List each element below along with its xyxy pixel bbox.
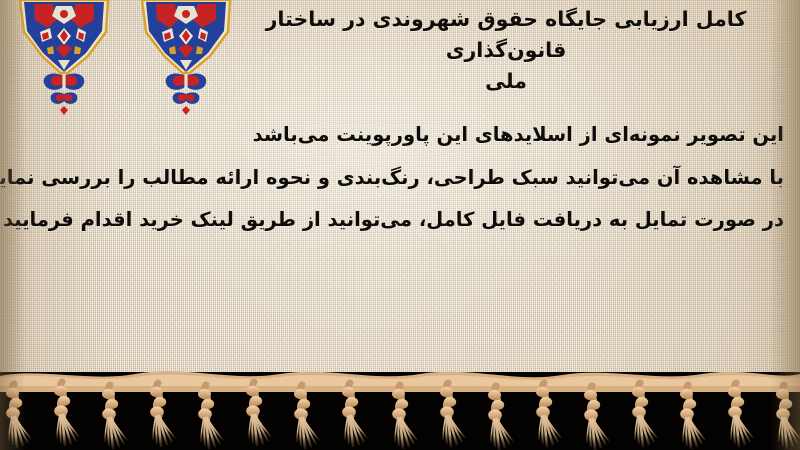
- slide-body: این تصویر نمونه‌ای از اسلایدهای این پاور…: [14, 114, 784, 242]
- persian-medallion-pendants-svg: [0, 0, 250, 115]
- slide-title: کامل ارزیابی جایگاه حقوق شهروندی در ساخت…: [226, 4, 786, 97]
- slide-canvas: کامل ارزیابی جایگاه حقوق شهروندی در ساخت…: [0, 0, 800, 450]
- persian-medallion-pendant-right: [142, 0, 230, 76]
- body-line-3: در صورت تمایل به دریافت فایل کامل، می‌تو…: [14, 199, 784, 242]
- ornament-group: [0, 0, 250, 115]
- fringe-svg: [0, 362, 800, 450]
- slide-title-line-2: ملی: [226, 66, 786, 97]
- body-line-1: این تصویر نمونه‌ای از اسلایدهای این پاور…: [14, 114, 784, 157]
- slide-title-line-1: کامل ارزیابی جایگاه حقوق شهروندی در ساخت…: [226, 4, 786, 66]
- persian-medallion-pendant-left: [20, 0, 108, 76]
- body-line-2: با مشاهده آن می‌توانید سبک طراحی، رنگ‌بن…: [14, 157, 784, 200]
- fringe-knots: [6, 382, 800, 450]
- carpet-knotted-fringe: [0, 362, 800, 450]
